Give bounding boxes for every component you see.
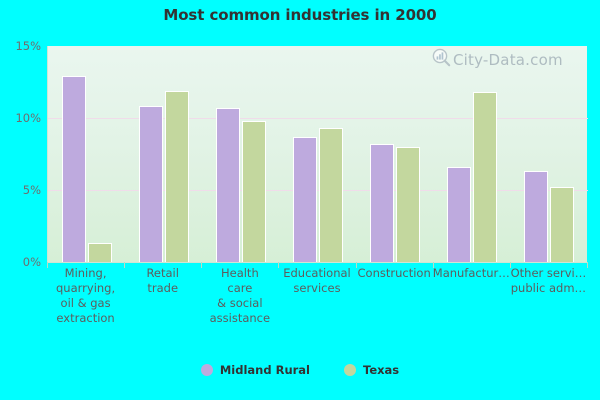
y-axis-tick-label: 15%: [0, 39, 41, 53]
legend-label: Texas: [363, 363, 399, 377]
bar[interactable]: [370, 144, 394, 262]
x-axis-category-label: Manufactur…: [433, 266, 510, 281]
gridline: [48, 190, 588, 191]
bar[interactable]: [447, 167, 471, 262]
gridline: [48, 118, 588, 119]
bar[interactable]: [550, 187, 574, 262]
legend-item[interactable]: Texas: [344, 363, 399, 377]
y-axis-tick-label: 0%: [0, 255, 41, 269]
x-axis-category-label: Mining, quarrying, oil & gas extraction: [47, 266, 124, 326]
x-axis-tick: [587, 262, 588, 268]
watermark: City-Data.com: [432, 48, 563, 71]
bar[interactable]: [88, 243, 112, 262]
bar[interactable]: [165, 91, 189, 262]
bar[interactable]: [319, 128, 343, 262]
legend-label: Midland Rural: [220, 363, 310, 377]
x-axis-category-label: Retail trade: [124, 266, 201, 296]
bar[interactable]: [139, 106, 163, 262]
bar[interactable]: [242, 121, 266, 262]
chart-title: Most common industries in 2000: [0, 6, 600, 24]
x-axis-category-label: Health care & social assistance: [201, 266, 278, 326]
bar[interactable]: [473, 92, 497, 262]
bar[interactable]: [293, 137, 317, 262]
magnifier-bar-chart-icon: [432, 48, 451, 71]
legend-item[interactable]: Midland Rural: [201, 363, 310, 377]
bar-chart: Most common industries in 2000 0%5%10%15…: [0, 0, 600, 400]
bar[interactable]: [216, 108, 240, 262]
bar[interactable]: [396, 147, 420, 262]
bar[interactable]: [524, 171, 548, 262]
plot-area: [47, 46, 587, 262]
watermark-text: City-Data.com: [453, 51, 563, 69]
x-axis-category-label: Educational services: [278, 266, 355, 296]
x-axis-category-label: Construction: [356, 266, 433, 281]
legend-swatch-icon: [344, 364, 356, 376]
y-axis-tick-label: 5%: [0, 183, 41, 197]
y-axis-tick-label: 10%: [0, 111, 41, 125]
legend: Midland RuralTexas: [0, 363, 600, 377]
bar[interactable]: [62, 76, 86, 262]
x-axis-category-label: Other servi… public adm…: [510, 266, 587, 296]
x-axis-line: [47, 262, 587, 263]
legend-swatch-icon: [201, 364, 213, 376]
